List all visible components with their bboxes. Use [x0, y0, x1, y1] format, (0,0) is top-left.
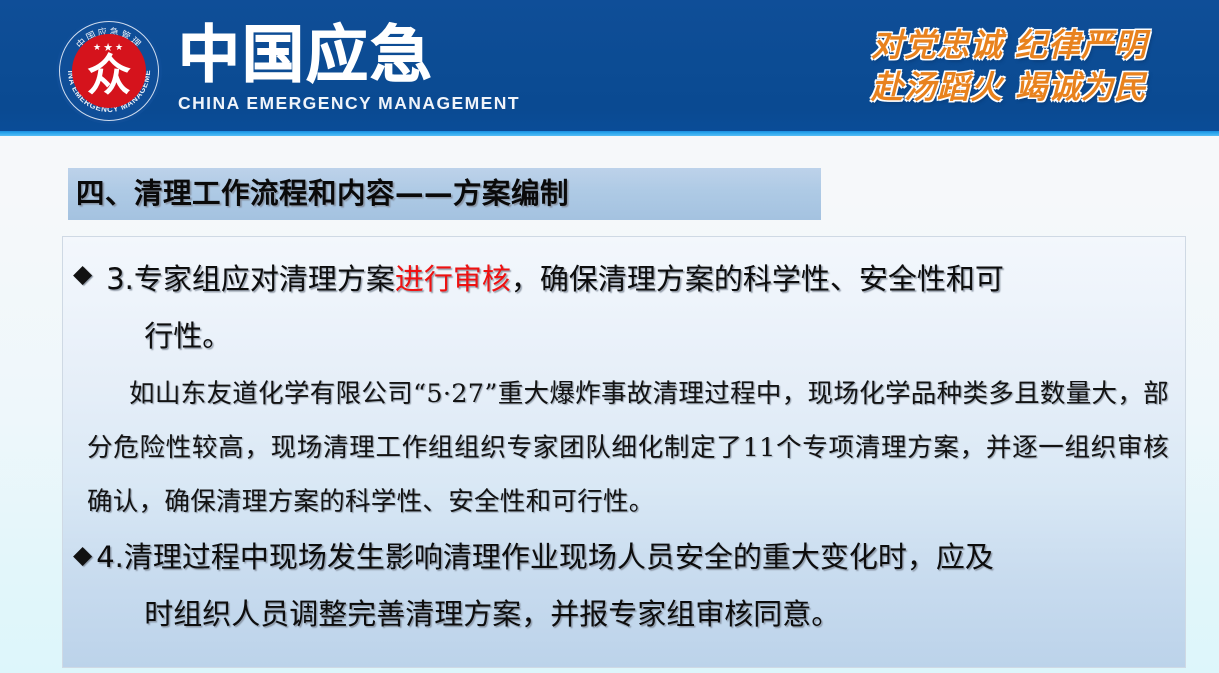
slogan-line-2: 赴汤蹈火竭诚为民 [871, 66, 1147, 108]
slogan-1b: 纪律严明 [1015, 26, 1147, 64]
header-accent-line [0, 131, 1219, 136]
slide-canvas: 中国应急管理 CHINA EMERGENCY MANAGEMENT ★★★ 众 … [0, 0, 1219, 673]
diamond-bullet-icon: ◆ [73, 529, 92, 581]
emblem-center-glyph: 众 [72, 54, 146, 98]
slogan-1a: 对党忠诚 [871, 26, 1003, 64]
slide-header: 中国应急管理 CHINA EMERGENCY MANAGEMENT ★★★ 众 … [0, 0, 1219, 136]
emblem-red-disc: ★★★ 众 [72, 34, 146, 108]
bullet-item-3-text: 3.专家组应对清理方案进行审核，确保清理方案的科学性、安全性和可行性。 [92, 251, 1004, 365]
bullet-item-4: ◆ 4.清理过程中现场发生影响清理作业现场人员安全的重大变化时，应及时组织人员调… [73, 529, 1175, 643]
diamond-bullet-icon: ◆ [73, 251, 92, 296]
bullet-3-highlight: 进行审核 [395, 262, 511, 296]
section-title-bar: 四、清理工作流程和内容——方案编制 [68, 168, 821, 220]
bullet-4-wrap-line: 时组织人员调整完善清理方案，并报专家组审核同意。 [96, 586, 994, 643]
example-paragraph: 如山东友道化学有限公司“5·27”重大爆炸事故清理过程中，现场化学品种类多且数量… [73, 367, 1175, 529]
page-title: 四、清理工作流程和内容——方案编制 [68, 178, 569, 210]
bullet-item-3: ◆ 3.专家组应对清理方案进行审核，确保清理方案的科学性、安全性和可行性。 [73, 251, 1175, 365]
brand-name-en: CHINA EMERGENCY MANAGEMENT [178, 94, 520, 112]
bullet-3-text-after: ，确保清理方案的科学性、安全性和可 [511, 262, 1004, 296]
slogan-line-1: 对党忠诚纪律严明 [871, 24, 1147, 66]
slogan-2a: 赴汤蹈火 [871, 68, 1003, 106]
bullet-3-text-before: 3.专家组应对清理方案 [106, 262, 395, 296]
china-emergency-management-emblem-icon: 中国应急管理 CHINA EMERGENCY MANAGEMENT ★★★ 众 [56, 18, 162, 124]
brand-block: 中国应急 CHINA EMERGENCY MANAGEMENT [178, 24, 520, 112]
content-panel: ◆ 3.专家组应对清理方案进行审核，确保清理方案的科学性、安全性和可行性。 如山… [62, 236, 1186, 668]
bullet-item-4-text: 4.清理过程中现场发生影响清理作业现场人员安全的重大变化时，应及时组织人员调整完… [92, 529, 994, 643]
slogan-2b: 竭诚为民 [1015, 68, 1147, 106]
bullet-4-text: 4.清理过程中现场发生影响清理作业现场人员安全的重大变化时，应及 [96, 540, 994, 574]
bullet-3-wrap-line: 行性。 [106, 308, 1004, 365]
brand-name-cn: 中国应急 [178, 24, 520, 86]
slogan-block: 对党忠诚纪律严明 赴汤蹈火竭诚为民 [871, 24, 1147, 108]
